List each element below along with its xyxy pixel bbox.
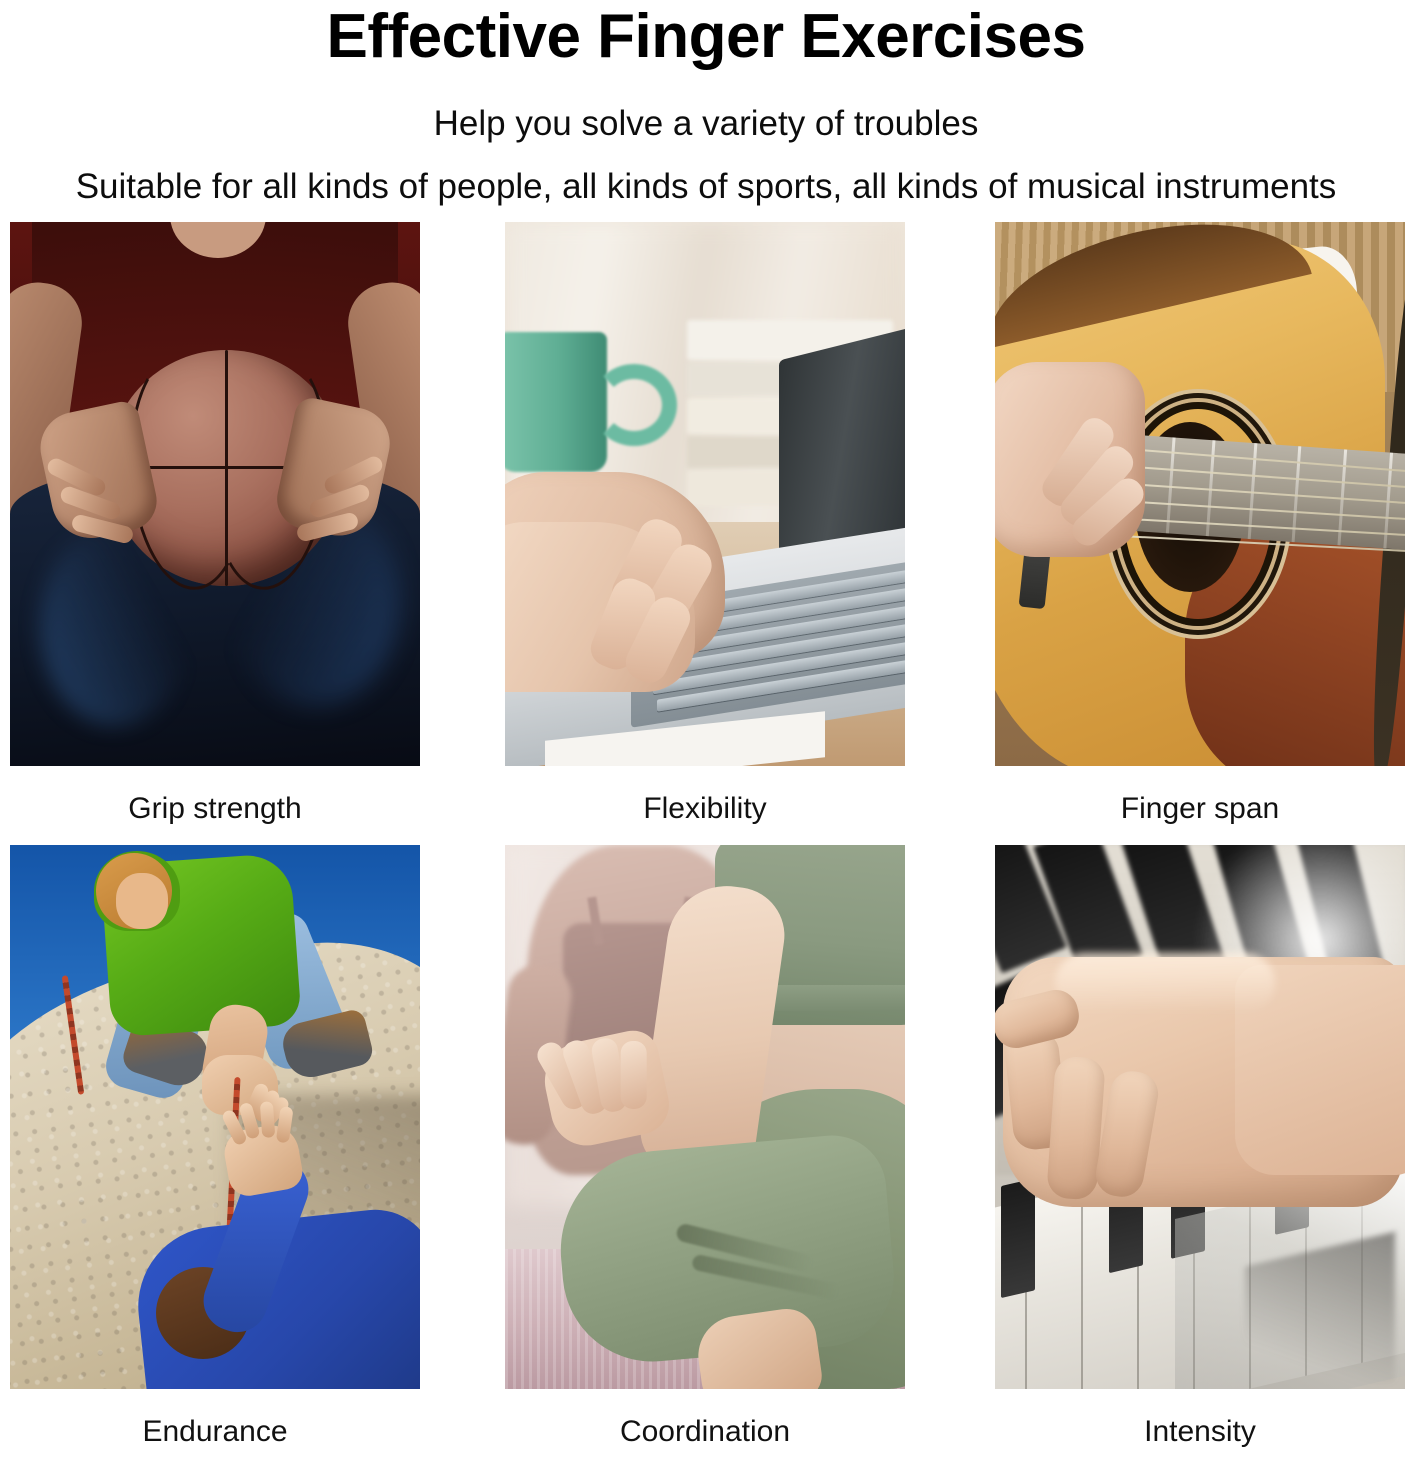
piano-playing-photo [995,845,1405,1389]
subtitle-line-2: Suitable for all kinds of people, all ki… [0,141,1412,204]
feature-caption: Finger span [995,766,1405,824]
feature-row: Grip strength [0,222,1412,845]
header-block: Effective Finger Exercises Help you solv… [0,0,1412,204]
feature-caption: Intensity [995,1389,1405,1447]
rock-climbing-photo [10,845,420,1389]
subtitle-line-1: Help you solve a variety of troubles [0,68,1412,141]
feature-cell: Grip strength [10,222,420,824]
page-title: Effective Finger Exercises [0,0,1412,68]
feature-caption: Flexibility [505,766,905,824]
feature-cell: Flexibility [505,222,905,824]
feature-grid: Grip strength [0,222,1412,1468]
feature-caption: Coordination [505,1389,905,1447]
feature-cell: Endurance [10,845,420,1447]
feature-cell: Intensity [995,845,1405,1447]
yoga-meditation-photo [505,845,905,1389]
acoustic-guitar-photo [995,222,1405,766]
feature-caption: Grip strength [10,766,420,824]
basketball-grip-photo [10,222,420,766]
feature-caption: Endurance [10,1389,420,1447]
laptop-typing-photo [505,222,905,766]
feature-cell: Coordination [505,845,905,1447]
infographic-page: Effective Finger Exercises Help you solv… [0,0,1412,1444]
feature-row: Endurance [0,845,1412,1468]
feature-cell: Finger span [995,222,1405,824]
